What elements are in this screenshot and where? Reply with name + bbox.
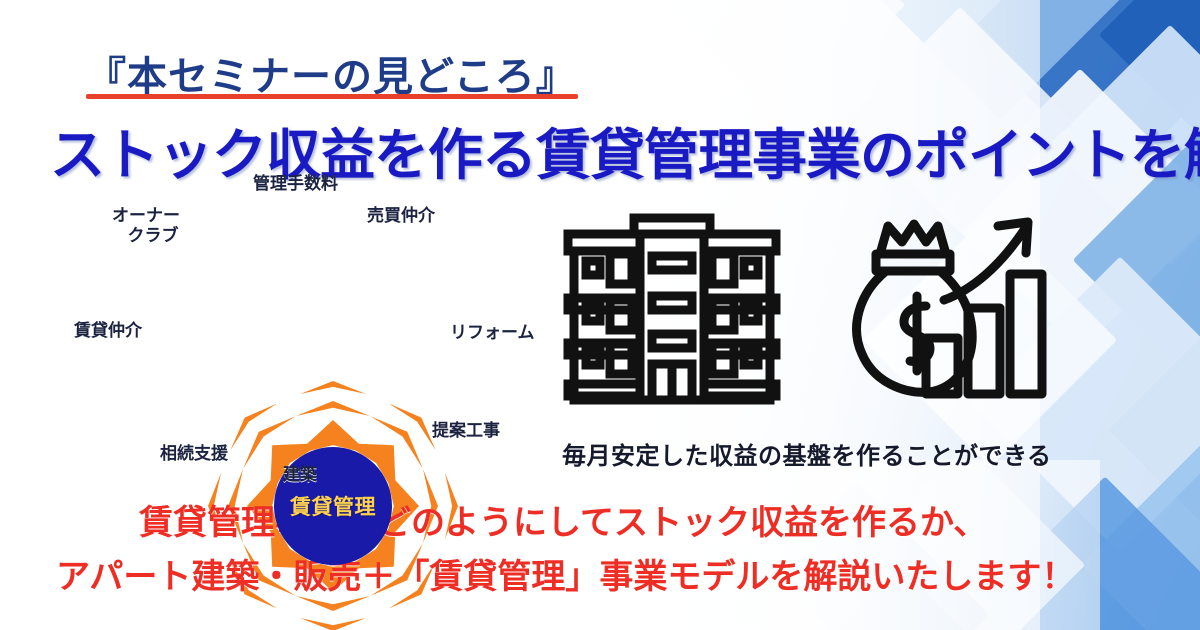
diagram-label-owner-club-line1: オーナー <box>112 206 180 226</box>
cta-line-2: アパート建築・販売＋「賃貸管理」事業モデルを解説いたします！ <box>56 549 1075 598</box>
chevron-shape <box>296 401 370 416</box>
diagram-label-kanri-tesuryo: 管理手数料 <box>253 174 338 194</box>
background-white-veil-bottom <box>0 460 1100 630</box>
diagram-label-reform: リフォーム <box>450 323 535 343</box>
chevron-shape <box>221 394 277 450</box>
chevron-shape <box>300 381 366 394</box>
diagram-label-chintai-chukai: 賃貸仲介 <box>74 321 142 341</box>
diagram-label-baibai-chukai: 売買仲介 <box>367 206 435 226</box>
banner-stage: 『本セミナーの見どころ』 ストック収益を作る賃貸管理事業のポイントを解説 賃貸管… <box>0 0 1200 630</box>
apartment-building-icon <box>556 206 786 411</box>
rental-management-hub-diagram: 賃貸管理 管理手数料 売買仲介 リフォーム 提案工事 建築 相続支援 賃貸仲介 … <box>40 175 560 485</box>
diagram-label-kenchiku: 建築 <box>283 465 317 485</box>
diagram-label-teian-koji: 提案工事 <box>432 421 500 441</box>
kicker-underline <box>86 94 578 99</box>
cta-line-1: 賃貸管理事業でどのようにしてストック収益を作るか、 <box>139 495 987 544</box>
icon-caption: 毎月安定した収益の基盤を作ることができる <box>562 436 1052 471</box>
money-bag-growth-chart-icon <box>848 208 1053 408</box>
diagram-label-owner-club-line2: クラブ <box>126 226 180 246</box>
diagram-label-sozoku-shien: 相続支援 <box>160 444 228 464</box>
diagram-label-owner-club: オーナー クラブ <box>112 206 180 246</box>
diagram-hub-label: 賃貸管理 <box>290 491 376 521</box>
